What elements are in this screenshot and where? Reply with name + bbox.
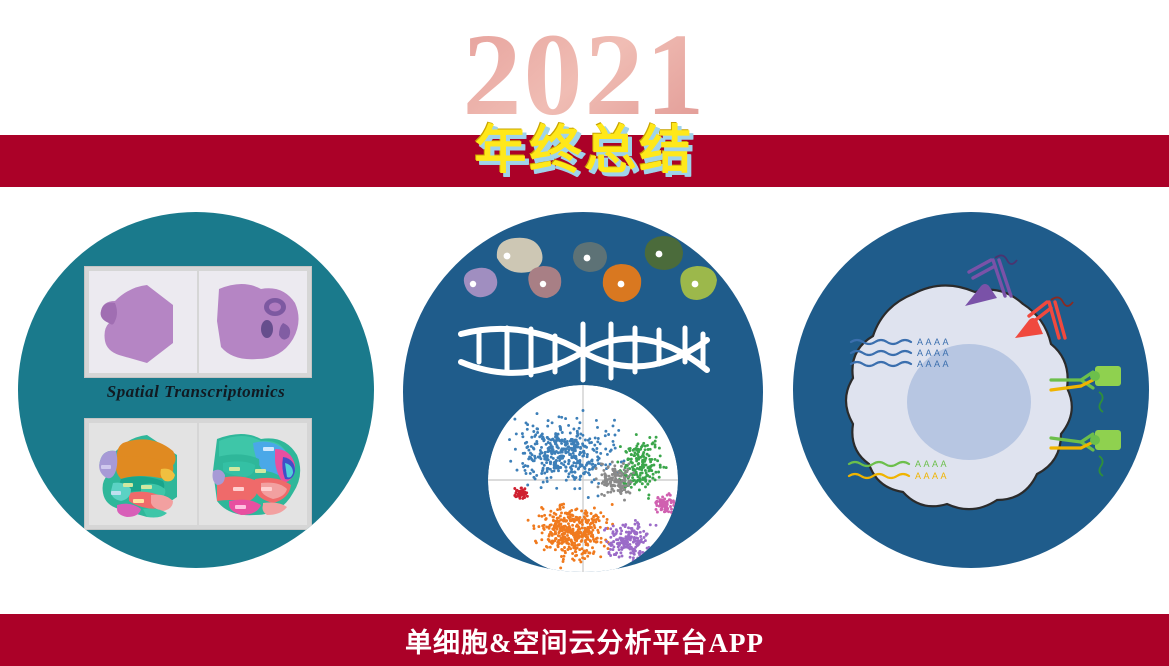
slide-root: 2021 年终总结 — [0, 0, 1169, 666]
cluster-green — [648, 436, 651, 439]
cluster-blue — [542, 481, 545, 484]
cluster-gray — [627, 490, 630, 493]
cluster-purple — [625, 531, 628, 534]
cluster-purple — [618, 556, 621, 559]
cluster-blue — [569, 453, 572, 456]
cluster-red — [523, 496, 526, 499]
cluster-blue — [509, 460, 512, 463]
cluster-blue — [617, 429, 620, 432]
cluster-blue — [556, 435, 559, 438]
cluster-red — [520, 490, 523, 493]
cluster-orange — [575, 539, 578, 542]
cluster-blue — [515, 432, 518, 435]
cluster-blue — [591, 448, 594, 451]
cluster-blue — [522, 465, 525, 468]
cluster-blue — [579, 437, 582, 440]
cluster-blue — [551, 452, 554, 455]
cluster-blue — [563, 448, 566, 451]
cluster-orange — [549, 531, 552, 534]
circle-single-cell[interactable] — [403, 212, 763, 572]
cluster-orange — [603, 545, 606, 548]
cluster-gray — [620, 492, 623, 495]
cluster-orange — [552, 541, 555, 544]
cluster-green — [656, 459, 659, 462]
cluster-blue — [529, 472, 532, 475]
cluster-green — [662, 466, 665, 469]
cluster-magenta — [672, 504, 675, 507]
cluster-orange — [559, 566, 562, 569]
cluster-orange — [567, 522, 570, 525]
cluster-orange — [587, 551, 590, 554]
cluster-orange — [602, 515, 605, 518]
cluster-orange — [605, 521, 608, 524]
cluster-green — [631, 462, 634, 465]
cluster-green — [644, 480, 647, 483]
cluster-blue — [513, 418, 516, 421]
cluster-blue — [549, 462, 552, 465]
cluster-blue — [588, 468, 591, 471]
cluster-orange — [592, 538, 595, 541]
cluster-orange — [576, 530, 579, 533]
cluster-purple — [638, 550, 641, 553]
cluster-orange — [599, 526, 602, 529]
cluster-orange — [576, 525, 579, 528]
cluster-gray — [619, 470, 622, 473]
cluster-orange — [584, 513, 587, 516]
cluster-gray — [609, 491, 612, 494]
cluster-green — [625, 464, 628, 467]
cluster-purple — [632, 559, 635, 562]
cluster-blue — [541, 462, 544, 465]
cluster-blue — [541, 433, 544, 436]
cluster-blue — [566, 440, 569, 443]
cluster-orange — [556, 508, 559, 511]
cluster-blue — [612, 443, 615, 446]
cluster-purple — [614, 553, 617, 556]
cluster-orange — [557, 521, 560, 524]
cluster-purple — [636, 537, 639, 540]
cluster-blue — [597, 482, 600, 485]
cluster-purple — [620, 539, 623, 542]
circle-multiomics-cell[interactable]: AAAA AAAA AAAA AAAA AAAA — [793, 212, 1149, 568]
cluster-orange — [551, 534, 554, 537]
cluster-blue — [561, 431, 564, 434]
cluster-orange — [543, 514, 546, 517]
cluster-red — [520, 487, 523, 490]
cluster-purple — [646, 532, 649, 535]
cluster-purple — [612, 540, 615, 543]
cluster-blue — [560, 416, 563, 419]
cluster-orange — [586, 521, 589, 524]
cluster-purple — [629, 556, 632, 559]
cluster-orange — [569, 516, 572, 519]
cluster-blue — [570, 470, 573, 473]
cluster-blue — [574, 449, 577, 452]
cluster-half-left — [89, 423, 197, 525]
cluster-blue — [596, 440, 599, 443]
cluster-orange — [572, 534, 575, 537]
cluster-blue — [583, 471, 586, 474]
cluster-blue — [574, 471, 577, 474]
cluster-green — [632, 449, 635, 452]
cluster-green — [659, 454, 662, 457]
cluster-green — [644, 485, 647, 488]
cluster-gray — [603, 472, 606, 475]
cluster-blue — [578, 421, 581, 424]
cluster-purple — [646, 547, 649, 550]
cluster-blue — [526, 465, 529, 468]
cluster-green — [633, 464, 636, 467]
cluster-green — [625, 451, 628, 454]
cluster-magenta — [674, 512, 677, 515]
cluster-green — [633, 454, 636, 457]
cluster-blue — [597, 437, 600, 440]
cluster-orange — [562, 531, 565, 534]
cluster-orange — [574, 554, 577, 557]
cluster-purple — [636, 527, 639, 530]
cluster-blue — [551, 470, 554, 473]
cluster-blue — [595, 419, 598, 422]
cluster-gray — [630, 481, 633, 484]
cluster-green — [641, 482, 644, 485]
cluster-orange — [581, 526, 584, 529]
cluster-orange — [591, 518, 594, 521]
cluster-purple — [632, 540, 635, 543]
cluster-blue — [545, 456, 548, 459]
cluster-blue — [561, 447, 564, 450]
cluster-orange — [573, 559, 576, 562]
cluster-orange — [590, 512, 593, 515]
cluster-orange — [584, 541, 587, 544]
cluster-orange — [593, 526, 596, 529]
cluster-orange — [581, 523, 584, 526]
cluster-red — [513, 487, 516, 490]
cluster-blue — [545, 477, 548, 480]
cluster-blue — [547, 458, 550, 461]
cluster-blue — [540, 446, 543, 449]
cluster-green — [654, 458, 657, 461]
cluster-red — [518, 497, 521, 500]
cluster-blue — [534, 477, 537, 480]
cluster-blue — [532, 430, 535, 433]
cluster-orange — [599, 555, 602, 558]
cluster-purple — [629, 552, 632, 555]
cluster-blue — [525, 472, 528, 475]
cluster-orange — [611, 503, 614, 506]
cluster-green — [631, 476, 634, 479]
cluster-orange — [549, 510, 552, 513]
cluster-orange — [546, 546, 549, 549]
cluster-blue — [604, 434, 607, 437]
cluster-orange — [585, 519, 588, 522]
cluster-orange — [553, 512, 556, 515]
cluster-orange — [568, 531, 571, 534]
cluster-green — [658, 447, 661, 450]
brain-section-clusters-right — [199, 423, 307, 525]
cluster-blue — [543, 464, 546, 467]
cluster-blue — [545, 443, 548, 446]
cluster-gray — [611, 478, 614, 481]
oligo-tag-green-2 — [1099, 456, 1103, 476]
cluster-blue — [541, 468, 544, 471]
cluster-gray — [605, 482, 608, 485]
cluster-orange — [563, 546, 566, 549]
cluster-blue — [536, 427, 539, 430]
cluster-blue — [572, 461, 575, 464]
cluster-blue — [521, 432, 524, 435]
cluster-green — [655, 436, 658, 439]
cluster-gray — [632, 471, 635, 474]
cluster-orange — [574, 547, 577, 550]
cluster-orange — [564, 550, 567, 553]
cluster-blue — [527, 449, 530, 452]
cluster-green — [642, 466, 645, 469]
cluster-blue — [609, 463, 612, 466]
cluster-green — [633, 469, 636, 472]
cluster-orange — [532, 524, 535, 527]
cluster-gray — [614, 469, 617, 472]
cluster-green — [630, 458, 633, 461]
circle-spatial-transcriptomics[interactable]: Spatial Transcriptomics — [18, 212, 374, 568]
cluster-magenta — [660, 508, 663, 511]
cell-3 — [528, 266, 561, 298]
cluster-blue — [525, 441, 528, 444]
cluster-magenta — [664, 506, 667, 509]
cluster-blue — [537, 456, 540, 459]
cluster-blue — [524, 469, 527, 472]
cluster-orange — [540, 506, 543, 509]
cluster-purple — [620, 548, 623, 551]
scatter-plot — [488, 385, 678, 572]
cluster-orange — [578, 558, 581, 561]
cluster-half-right — [199, 423, 307, 525]
cluster-blue — [591, 466, 594, 469]
cluster-blue — [567, 475, 570, 478]
cluster-blue — [576, 434, 579, 437]
cluster-gray — [623, 499, 626, 502]
cluster-gray — [615, 473, 618, 476]
cluster-blue — [540, 472, 543, 475]
cluster-orange — [553, 524, 556, 527]
cluster-orange — [570, 509, 573, 512]
cluster-magenta — [670, 508, 673, 511]
cluster-orange — [574, 550, 577, 553]
cluster-orange — [557, 539, 560, 542]
cluster-blue — [578, 427, 581, 430]
cluster-purple — [624, 523, 627, 526]
multiomics-cell-graphic: AAAA AAAA AAAA AAAA AAAA — [793, 212, 1149, 568]
cluster-purple — [622, 543, 625, 546]
cluster-green — [633, 483, 636, 486]
cluster-green — [627, 457, 630, 460]
cluster-purple — [627, 533, 630, 536]
cluster-blue — [574, 455, 577, 458]
cluster-blue — [551, 446, 554, 449]
cluster-orange — [549, 546, 552, 549]
cluster-purple — [634, 519, 637, 522]
cluster-orange — [606, 518, 609, 521]
cluster-blue — [567, 424, 570, 427]
cluster-green — [642, 451, 645, 454]
cluster-orange — [579, 516, 582, 519]
cluster-orange — [570, 540, 573, 543]
cluster-blue — [588, 437, 591, 440]
cluster-green — [616, 461, 619, 464]
cluster-orange — [549, 524, 552, 527]
cluster-blue — [582, 450, 585, 453]
cluster-blue — [584, 467, 587, 470]
cluster-purple — [609, 536, 612, 539]
cluster-orange — [551, 527, 554, 530]
cluster-purple — [625, 546, 628, 549]
cluster-gray — [627, 484, 630, 487]
cluster-gray — [595, 467, 598, 470]
cluster-blue — [578, 487, 581, 490]
cluster-orange — [555, 537, 558, 540]
cluster-gray — [600, 462, 603, 465]
cluster-blue — [529, 452, 532, 455]
cluster-blue — [577, 461, 580, 464]
cluster-purple — [608, 543, 611, 546]
cluster-blue — [572, 452, 575, 455]
cluster-blue — [596, 426, 599, 429]
cluster-magenta — [661, 501, 664, 504]
cluster-blue — [593, 444, 596, 447]
cluster-gray — [623, 476, 626, 479]
cluster-blue — [550, 476, 553, 479]
cluster-orange — [594, 520, 597, 523]
cluster-gray — [602, 469, 605, 472]
cluster-blue — [546, 467, 549, 470]
cluster-orange — [593, 507, 596, 510]
cluster-gray — [623, 468, 626, 471]
cluster-orange — [583, 557, 586, 560]
cluster-purple — [621, 555, 624, 558]
cluster-magenta — [672, 499, 675, 502]
cluster-blue — [554, 442, 557, 445]
cluster-purple — [612, 530, 615, 533]
cluster-green — [646, 483, 649, 486]
cluster-blue — [535, 474, 538, 477]
cluster-blue — [570, 468, 573, 471]
cluster-orange — [599, 511, 602, 514]
cluster-green — [639, 466, 642, 469]
cluster-purple — [619, 527, 622, 530]
cluster-blue — [614, 447, 617, 450]
cluster-orange — [559, 523, 562, 526]
cluster-blue — [558, 415, 561, 418]
cluster-orange — [565, 527, 568, 530]
cluster-blue — [543, 472, 546, 475]
cluster-blue — [581, 464, 584, 467]
cluster-blue — [555, 450, 558, 453]
cluster-green — [654, 471, 657, 474]
cluster-blue — [526, 484, 529, 487]
cluster-gray — [618, 481, 621, 484]
cluster-orange — [586, 535, 589, 538]
cluster-blue — [559, 466, 562, 469]
cluster-blue — [560, 454, 563, 457]
cluster-blue — [590, 441, 593, 444]
cluster-orange — [541, 531, 544, 534]
cluster-magenta — [669, 498, 672, 501]
cluster-orange — [573, 520, 576, 523]
cell-2 — [497, 238, 543, 273]
cluster-green — [633, 479, 636, 482]
cluster-gray — [600, 473, 603, 476]
cluster-orange — [562, 527, 565, 530]
cluster-blue — [556, 446, 559, 449]
cluster-blue — [572, 428, 575, 431]
cluster-green — [649, 468, 652, 471]
cluster-orange — [540, 515, 543, 518]
cluster-blue — [597, 462, 600, 465]
cluster-green — [647, 497, 650, 500]
cluster-orange — [571, 524, 574, 527]
cluster-gray — [606, 466, 609, 469]
cluster-orange — [534, 540, 537, 543]
cluster-purple — [609, 548, 612, 551]
cluster-blue — [594, 436, 597, 439]
cluster-blue — [526, 423, 529, 426]
cluster-blue — [536, 431, 539, 434]
cluster-blue — [606, 453, 609, 456]
cluster-gray — [606, 491, 609, 494]
cluster-blue — [532, 447, 535, 450]
cluster-orange — [569, 519, 572, 522]
cluster-blue — [576, 445, 579, 448]
cluster-blue — [578, 453, 581, 456]
spatial-transcriptomics-caption: Spatial Transcriptomics — [18, 382, 374, 402]
cluster-red — [516, 492, 519, 495]
cluster-blue — [551, 421, 554, 424]
cluster-blue — [564, 444, 567, 447]
cluster-orange — [586, 544, 589, 547]
cluster-green — [639, 479, 642, 482]
cluster-orange — [563, 555, 566, 558]
cluster-green — [644, 469, 647, 472]
cluster-purple — [639, 535, 642, 538]
cluster-green — [644, 477, 647, 480]
cluster-green — [635, 480, 638, 483]
cluster-blue — [574, 465, 577, 468]
cluster-orange — [580, 547, 583, 550]
cluster-blue — [567, 451, 570, 454]
cluster-blue — [563, 460, 566, 463]
cluster-blue — [612, 424, 615, 427]
cluster-blue — [550, 438, 553, 441]
cluster-purple — [639, 531, 642, 534]
cluster-blue — [564, 465, 567, 468]
cluster-green — [654, 443, 657, 446]
cluster-gray — [620, 465, 623, 468]
brain-section-he-left — [89, 271, 197, 373]
cluster-blue — [569, 432, 572, 435]
cluster-blue — [550, 456, 553, 459]
cluster-orange — [527, 519, 530, 522]
cluster-green — [619, 445, 622, 448]
cluster-blue — [583, 445, 586, 448]
cluster-blue — [623, 460, 626, 463]
cluster-purple — [638, 553, 641, 556]
cluster-orange — [562, 506, 565, 509]
cluster-orange — [537, 525, 540, 528]
cluster-blue — [565, 479, 568, 482]
polyA-tail-green: AAAA — [915, 459, 949, 469]
cluster-orange — [566, 513, 569, 516]
cluster-blue — [582, 409, 585, 412]
cluster-blue — [531, 468, 534, 471]
